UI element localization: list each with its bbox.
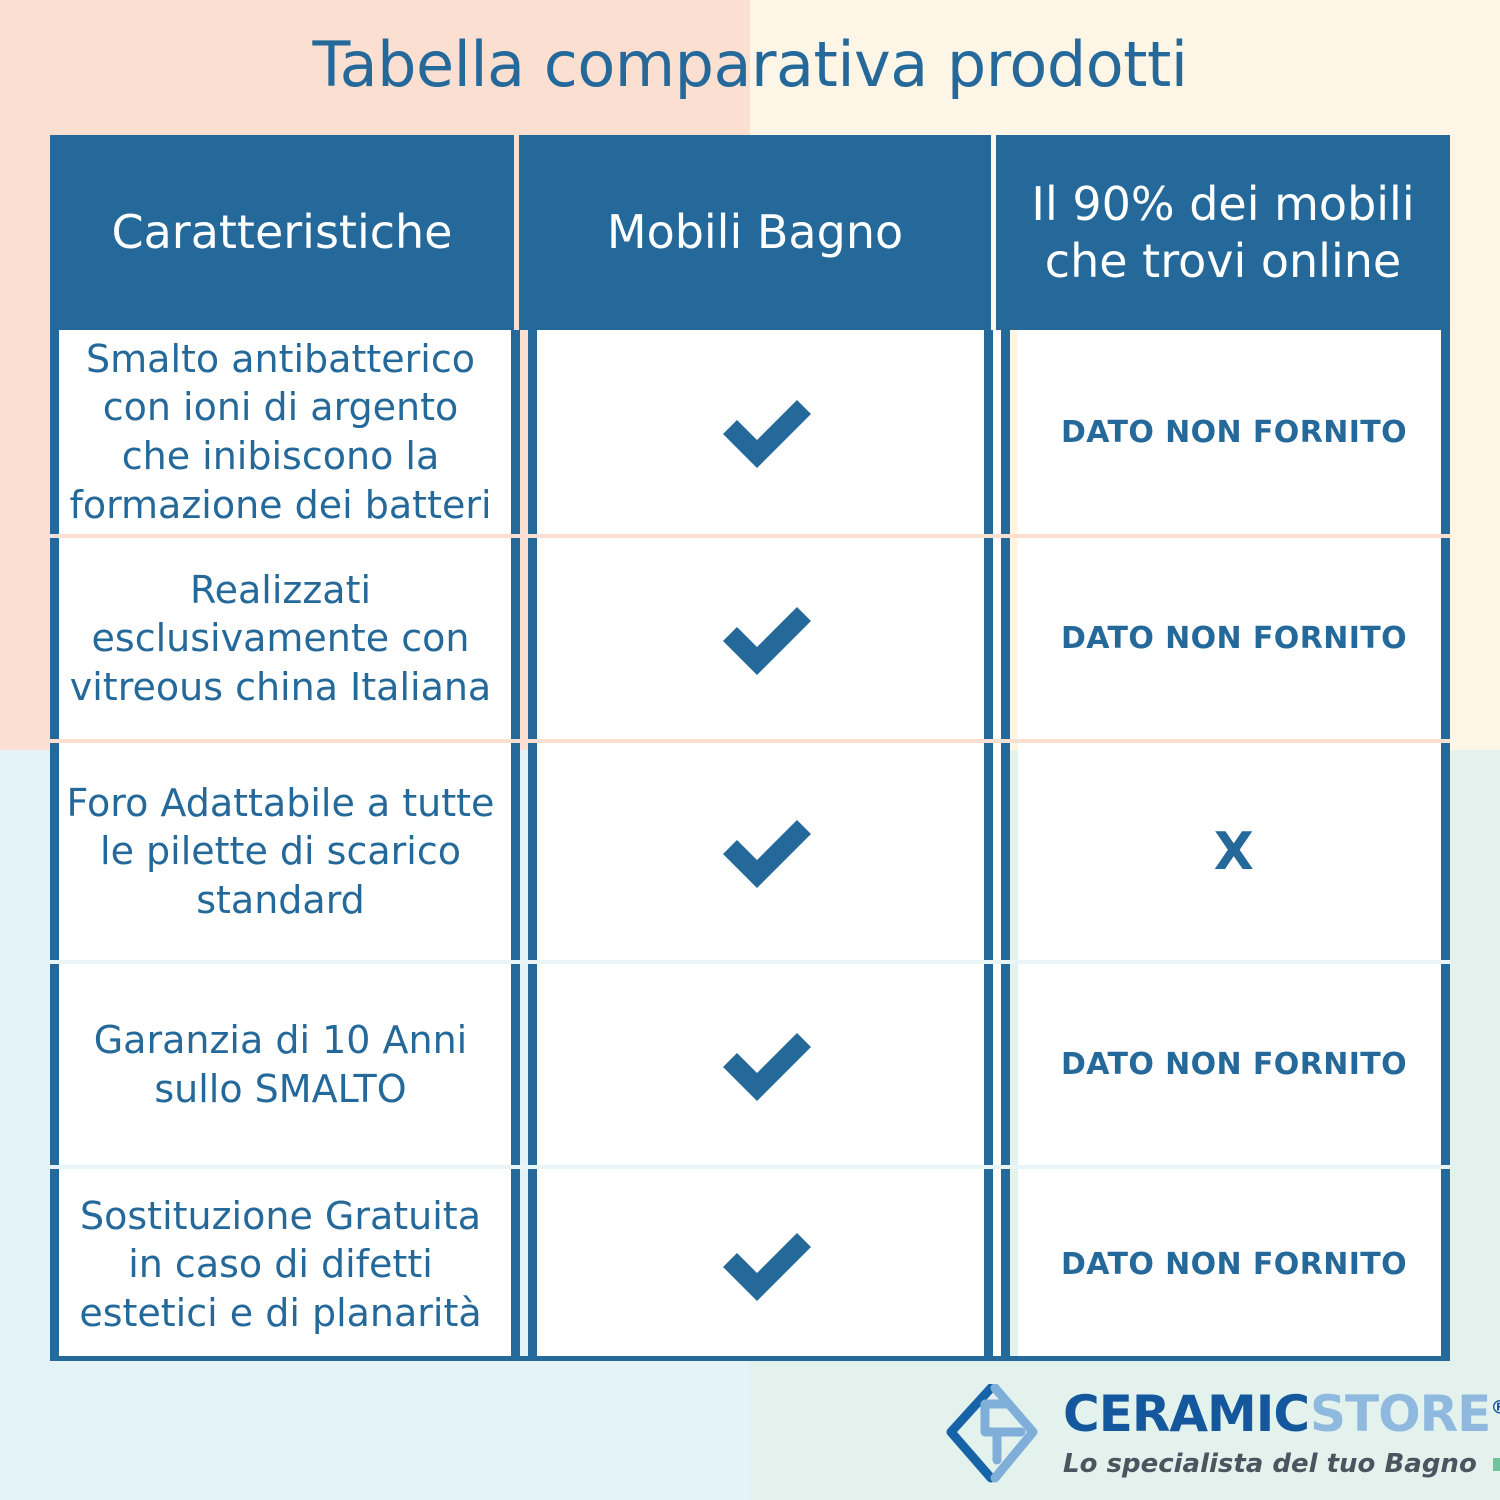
column-header-caratteristiche: Caratteristiche: [50, 135, 514, 330]
check-icon: [713, 390, 817, 474]
table-rail-left: [50, 538, 59, 739]
column-header-line-1: Il 90% dei mobili: [1031, 177, 1414, 231]
flag-stripe-green: [1493, 1458, 1500, 1471]
cell-altri: X: [1018, 743, 1450, 960]
cell-feature: Realizzati esclusivamente con vitreous c…: [50, 538, 511, 739]
table-rail-mid-b1: [984, 964, 993, 1165]
table-rail-mid-a1: [511, 1169, 520, 1360]
column-header-mobili-bagno: Mobili Bagno: [519, 135, 991, 330]
cell-altri: DATO NON FORNITO: [1018, 538, 1450, 739]
cell-mobili-bagno: [528, 964, 1001, 1165]
italy-flag-icon: [1493, 1458, 1500, 1471]
logo-word-ceramic: CERAMIC: [1063, 1385, 1310, 1443]
table-row: Garanzia di 10 Anni sullo SMALTO DATO NO…: [50, 964, 1450, 1169]
table-row: Foro Adattabile a tutte le pilette di sc…: [50, 743, 1450, 964]
ceramicstore-logo-mark: [945, 1384, 1041, 1484]
table-rail-left: [50, 964, 59, 1165]
cell-mobili-bagno: [528, 1169, 1001, 1360]
column-header-label: Il 90% dei mobili che trovi online: [1031, 176, 1414, 288]
table-row: Realizzati esclusivamente con vitreous c…: [50, 538, 1450, 743]
table-rail-right: [1441, 330, 1450, 534]
table-rail-right: [1441, 538, 1450, 739]
table-rail-mid-b2: [1001, 1169, 1010, 1360]
table-row: Sostituzione Gratuita in caso di difetti…: [50, 1169, 1450, 1360]
logo-tagline-row: Lo specialista del tuo Bagno: [1063, 1449, 1500, 1479]
cell-feature: Sostituzione Gratuita in caso di difetti…: [50, 1169, 511, 1360]
table-rail-mid-a1: [511, 538, 520, 739]
registered-trademark-icon: ®: [1490, 1396, 1500, 1418]
table-rail-right: [1441, 1169, 1450, 1360]
check-icon: [713, 810, 817, 894]
check-icon: [713, 1223, 817, 1307]
table-rail-left: [50, 743, 59, 960]
column-header-altri-mobili-online: Il 90% dei mobili che trovi online: [996, 135, 1450, 330]
table-row: Smalto antibatterico con ioni di argento…: [50, 330, 1450, 538]
table-rail-mid-a2: [528, 330, 537, 534]
brand-logo: CERAMICSTORE® Lo specialista del tuo Bag…: [945, 1378, 1465, 1490]
table-rail-mid-a2: [528, 538, 537, 739]
table-header-row: Caratteristiche Mobili Bagno Il 90% dei …: [50, 135, 1450, 330]
page-title: Tabella comparativa prodotti: [0, 28, 1500, 101]
logo-tagline: Lo specialista del tuo Bagno: [1063, 1449, 1477, 1479]
table-rail-mid-a2: [528, 1169, 537, 1360]
table-rail-mid-a2: [528, 743, 537, 960]
table-body: Smalto antibatterico con ioni di argento…: [50, 330, 1450, 1360]
column-header-label: Mobili Bagno: [607, 204, 903, 260]
cell-altri: DATO NON FORNITO: [1018, 330, 1450, 534]
check-icon: [713, 597, 817, 681]
table-rail-right: [1441, 964, 1450, 1165]
cell-feature: Smalto antibatterico con ioni di argento…: [50, 330, 511, 534]
logo-wordmark: CERAMICSTORE®: [1063, 1389, 1500, 1439]
table-rail-mid-b2: [1001, 964, 1010, 1165]
table-rail-left: [50, 1169, 59, 1360]
cell-altri: DATO NON FORNITO: [1018, 1169, 1450, 1360]
table-rail-mid-a1: [511, 330, 520, 534]
table-rail-mid-b2: [1001, 743, 1010, 960]
cell-mobili-bagno: [528, 330, 1001, 534]
cell-mobili-bagno: [528, 538, 1001, 739]
table-bottom-border: [50, 1356, 1450, 1361]
table-rail-mid-b1: [984, 538, 993, 739]
cell-feature: Foro Adattabile a tutte le pilette di sc…: [50, 743, 511, 960]
logo-word-store: STORE: [1310, 1385, 1490, 1443]
cell-altri: DATO NON FORNITO: [1018, 964, 1450, 1165]
table-rail-mid-a2: [528, 964, 537, 1165]
table-rail-mid-b2: [1001, 538, 1010, 739]
cross-mark-icon: X: [1214, 826, 1255, 878]
poster-canvas: Tabella comparativa prodotti Caratterist…: [0, 0, 1500, 1500]
cell-mobili-bagno: [528, 743, 1001, 960]
logo-text-block: CERAMICSTORE® Lo specialista del tuo Bag…: [1063, 1389, 1500, 1479]
table-rail-mid-b1: [984, 743, 993, 960]
cell-feature: Garanzia di 10 Anni sullo SMALTO: [50, 964, 511, 1165]
column-header-label: Caratteristiche: [111, 204, 452, 260]
check-icon: [713, 1023, 817, 1107]
table-rail-right: [1441, 743, 1450, 960]
table-rail-left: [50, 330, 59, 534]
table-rail-mid-b1: [984, 1169, 993, 1360]
table-rail-mid-a1: [511, 743, 520, 960]
comparison-table: Caratteristiche Mobili Bagno Il 90% dei …: [50, 135, 1450, 1360]
table-rail-mid-b2: [1001, 330, 1010, 534]
column-header-line-2: che trovi online: [1045, 234, 1401, 288]
table-rail-mid-b1: [984, 330, 993, 534]
table-rail-mid-a1: [511, 964, 520, 1165]
